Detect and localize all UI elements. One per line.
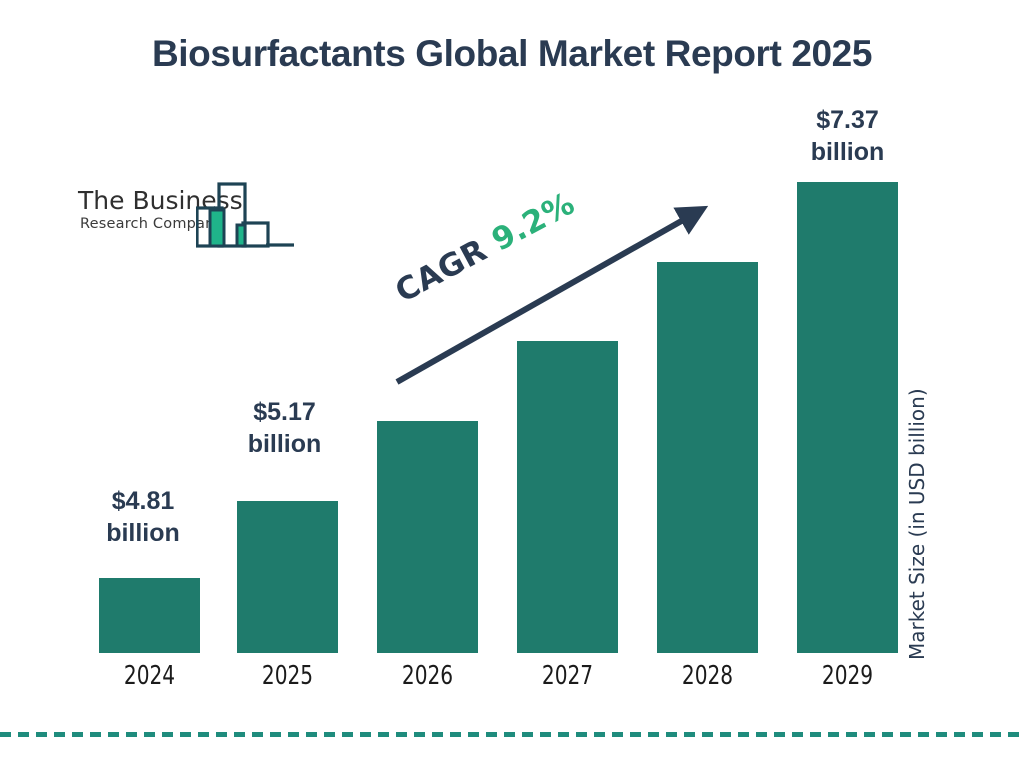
bar-value-2025: $5.17 billion xyxy=(222,396,347,460)
bar-value-2029-amount: $7.37 xyxy=(785,104,910,136)
bar-value-2024: $4.81 billion xyxy=(88,485,198,549)
x-tick-2029: 2029 xyxy=(804,661,891,691)
x-tick-2026: 2026 xyxy=(384,661,471,691)
x-tick-2025: 2025 xyxy=(244,661,331,691)
bar-2029 xyxy=(797,182,898,653)
chart-canvas: Biosurfactants Global Market Report 2025… xyxy=(0,0,1024,768)
bar-value-2029-unit: billion xyxy=(785,136,910,168)
bar-2025 xyxy=(237,501,338,653)
bar-value-2029: $7.37 billion xyxy=(785,104,910,168)
x-tick-2024: 2024 xyxy=(106,661,193,691)
bar-value-2024-unit: billion xyxy=(88,517,198,549)
bar-value-2024-amount: $4.81 xyxy=(88,485,198,517)
bar-2026 xyxy=(377,421,478,653)
cagr-value: 9.2% xyxy=(486,185,581,258)
bar-chart-plot: $4.81 billion $5.17 billion $7.37 billio… xyxy=(0,0,1024,768)
cagr-word: CAGR xyxy=(390,232,493,310)
bar-value-2025-amount: $5.17 xyxy=(222,396,347,428)
bar-2028 xyxy=(657,262,758,653)
bar-2027 xyxy=(517,341,618,653)
x-tick-2028: 2028 xyxy=(664,661,751,691)
cagr-annotation: CAGR 9.2% xyxy=(390,185,581,309)
bar-2024 xyxy=(99,578,200,653)
bar-value-2025-unit: billion xyxy=(222,428,347,460)
y-axis-label: Market Size (in USD billion) xyxy=(905,330,929,660)
footer-dashed-rule xyxy=(0,732,1024,737)
x-tick-2027: 2027 xyxy=(524,661,611,691)
